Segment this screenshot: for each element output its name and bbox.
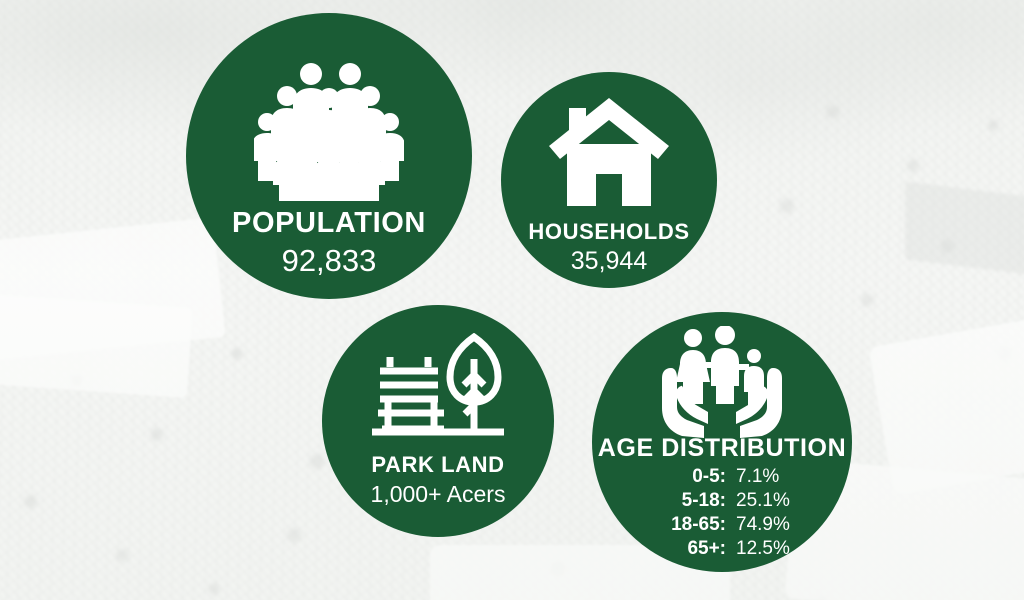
infographic-canvas: POPULATION 92,833 HOUSEHOLDS 35,944 <box>0 0 1024 600</box>
age-row: 0-5: 7.1% <box>610 467 852 486</box>
age-band-label: 18-65: <box>642 515 736 534</box>
age-row: 5-18: 25.1% <box>610 491 852 510</box>
age-band-label: 5-18: <box>642 491 736 510</box>
park-bench-and-tree-icon <box>368 333 508 445</box>
age-band-percent: 7.1% <box>736 467 820 486</box>
age-distribution-title: AGE DISTRIBUTION <box>592 436 852 461</box>
age-band-label: 65+: <box>642 539 736 558</box>
population-title: POPULATION <box>186 209 472 238</box>
households-title: HOUSEHOLDS <box>501 221 717 243</box>
age-band-label: 0-5: <box>642 467 736 486</box>
population-value: 92,833 <box>186 245 472 276</box>
stat-circle-population[interactable]: POPULATION 92,833 <box>186 13 472 299</box>
parkland-value: 1,000+ Acers <box>322 483 554 506</box>
stat-circle-households[interactable]: HOUSEHOLDS 35,944 <box>501 72 717 288</box>
households-value: 35,944 <box>501 249 717 274</box>
age-band-percent: 25.1% <box>736 491 820 510</box>
hands-holding-family-icon <box>655 326 789 438</box>
house-icon <box>547 96 671 208</box>
age-distribution-table: 0-5: 7.1% 5-18: 25.1% 18-65: 74.9% 65+: … <box>592 467 852 558</box>
age-band-percent: 74.9% <box>736 515 820 534</box>
age-row: 65+: 12.5% <box>610 539 852 558</box>
age-band-percent: 12.5% <box>736 539 820 558</box>
crowd-of-people-icon <box>254 61 404 201</box>
stat-circle-age-distribution[interactable]: AGE DISTRIBUTION 0-5: 7.1% 5-18: 25.1% 1… <box>592 312 852 572</box>
age-row: 18-65: 74.9% <box>610 515 852 534</box>
parkland-title: PARK LAND <box>322 454 554 476</box>
stat-circle-parkland[interactable]: PARK LAND 1,000+ Acers <box>322 305 554 537</box>
